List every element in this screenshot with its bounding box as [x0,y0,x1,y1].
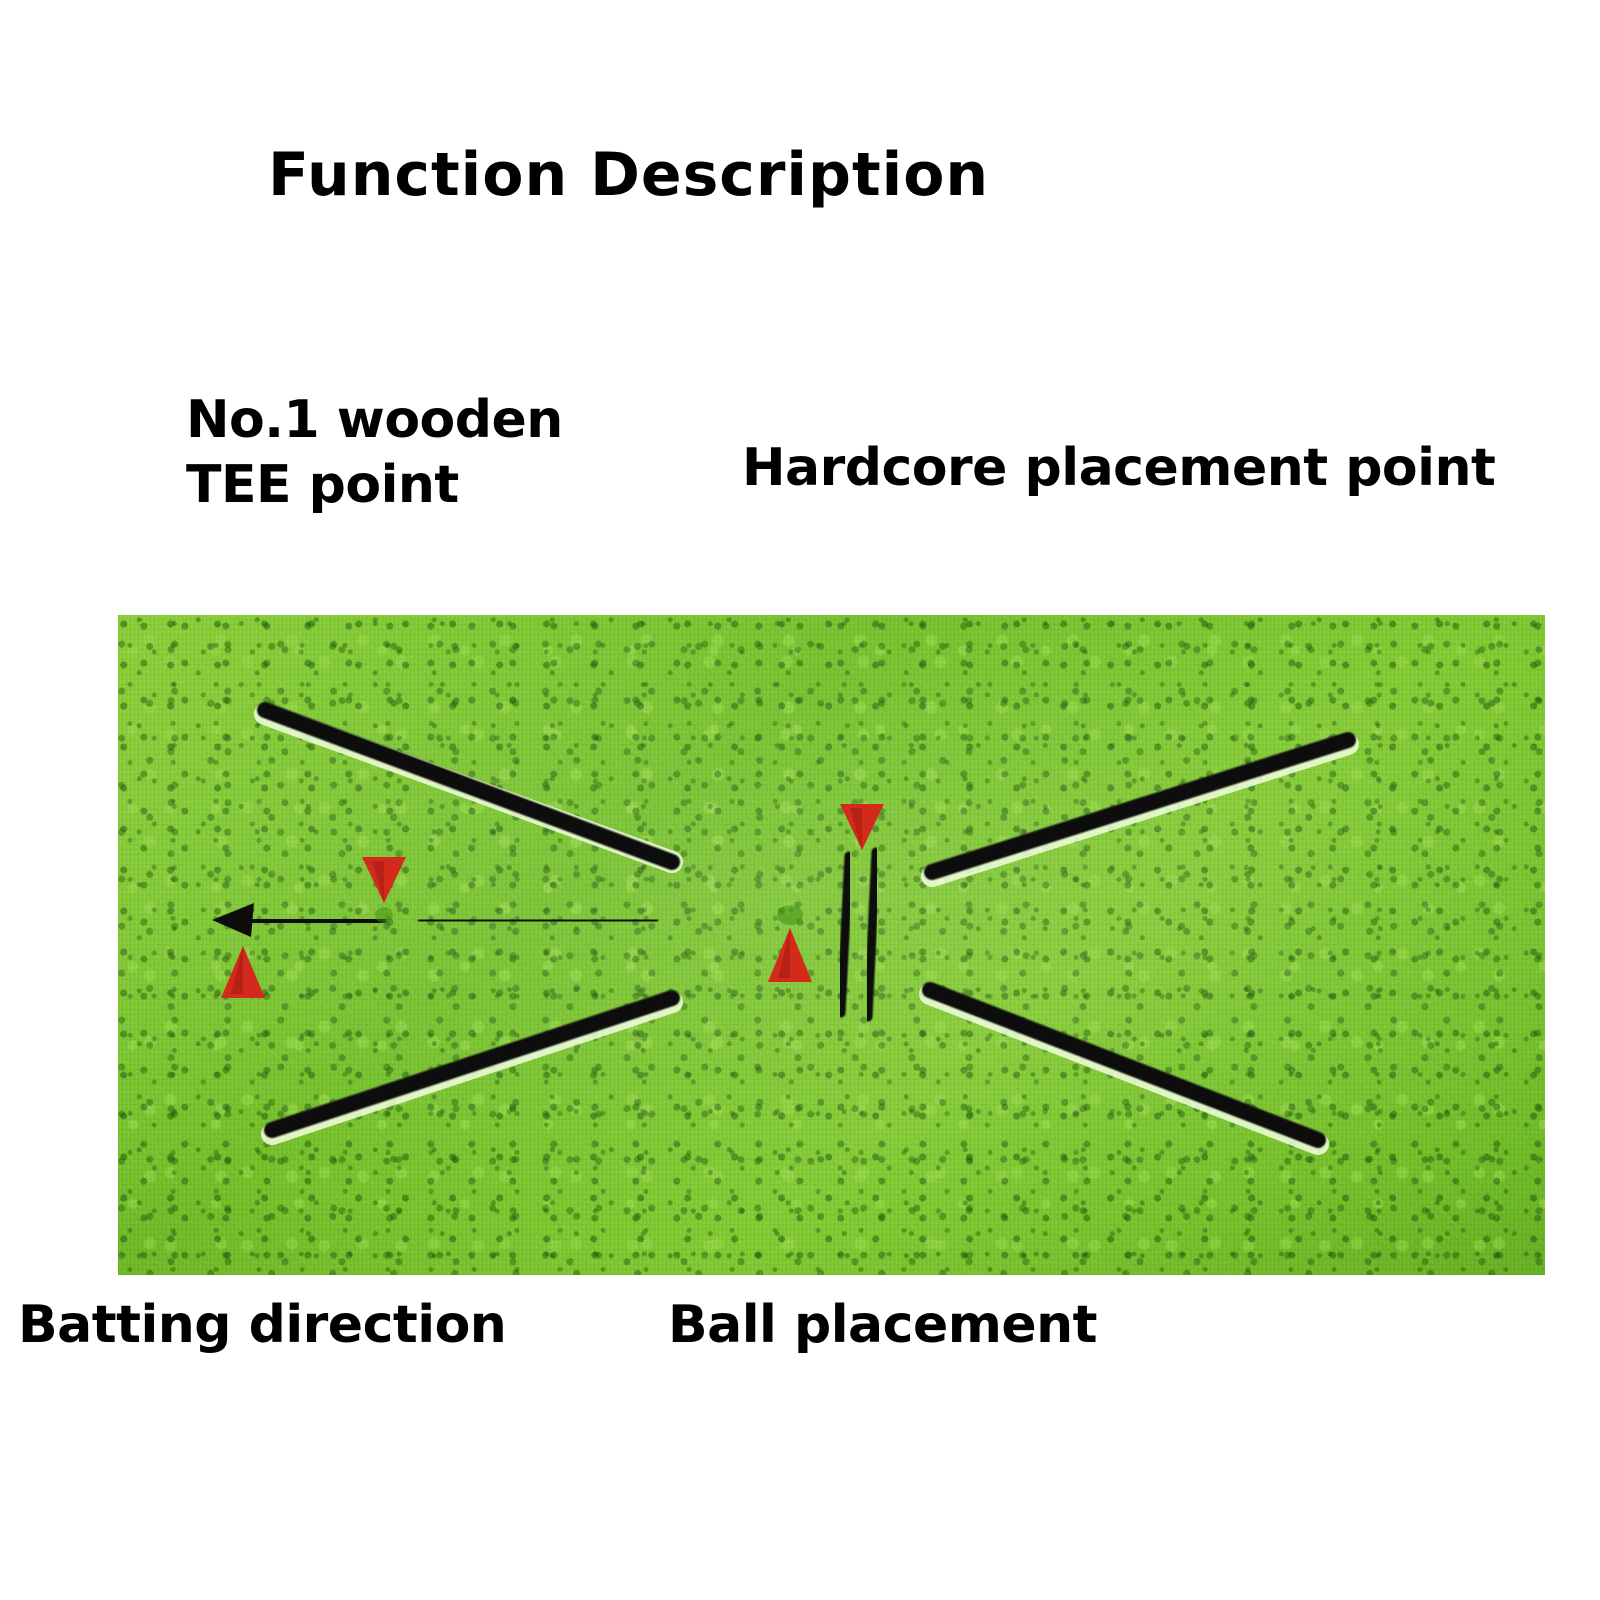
annotation-label-tee-point-line2: TEE point [186,453,616,518]
ball-placement-spot [777,905,803,925]
annotation-label-tee-point: No.1 wooden TEE point [186,388,616,518]
annotation-label-hardcore-placement-point: Hardcore placement point [742,438,1495,499]
left-arrowhead-icon [212,903,254,937]
page-title: Function Description [268,140,989,211]
golf-practice-mat-image [118,615,1545,1275]
guide-line-left-center-with-arrow [212,903,658,937]
mat-guide-lines-layer [118,615,1545,1275]
guide-line-right-lower-diagonal [930,990,1318,1144]
tee-point-spot [375,907,393,923]
annotation-label-ball-placement: Ball placement [668,1295,1097,1356]
diagram-canvas: Function Description No.1 wooden TEE poi… [0,0,1600,1600]
guide-mark-hardcore-placement [841,852,876,1017]
annotation-label-batting-direction: Batting direction [18,1295,506,1356]
guide-line-right-upper-diagonal [932,740,1348,876]
guide-line-left-upper-diagonal [265,710,672,862]
annotation-label-tee-point-line1: No.1 wooden [186,388,616,453]
guide-line-left-lower-diagonal [272,998,672,1134]
